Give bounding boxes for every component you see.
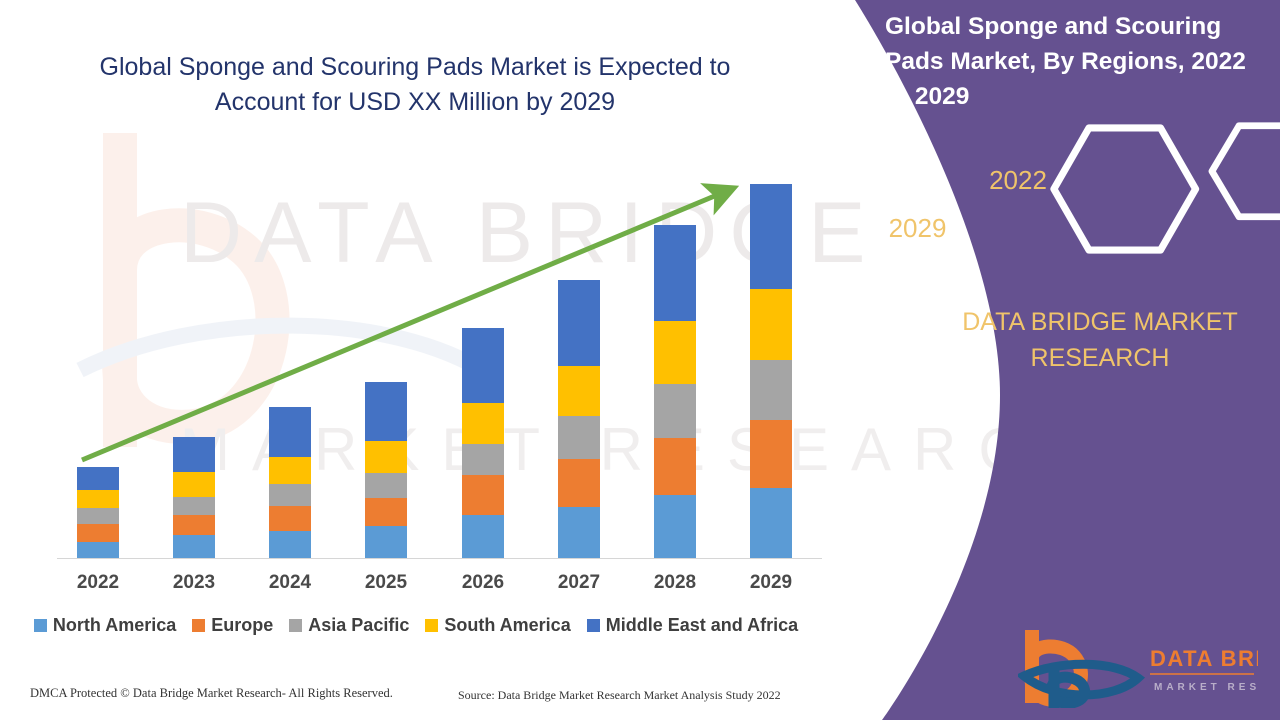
bar-group [0, 0, 860, 558]
segment-2029-south-america[interactable] [750, 289, 792, 359]
chart-legend: North AmericaEuropeAsia PacificSouth Ame… [0, 615, 832, 636]
legend-label: North America [53, 615, 176, 636]
segment-2026-north-america[interactable] [462, 515, 504, 558]
segment-2026-south-america[interactable] [462, 403, 504, 444]
legend-item-middle-east-and-africa[interactable]: Middle East and Africa [587, 615, 798, 636]
chart-plot-area: 20222023202420252026202720282029 [0, 0, 860, 580]
segment-2022-north-america[interactable] [77, 542, 119, 558]
segment-2028-north-america[interactable] [654, 495, 696, 558]
hex-2022-shape [1212, 126, 1280, 217]
segment-2027-asia-pacific[interactable] [558, 416, 600, 459]
legend-item-asia-pacific[interactable]: Asia Pacific [289, 615, 409, 636]
footer-copyright: DMCA Protected © Data Bridge Market Rese… [30, 686, 393, 701]
segment-2024-europe[interactable] [269, 506, 311, 531]
segment-2026-asia-pacific[interactable] [462, 444, 504, 476]
legend-swatch-icon [192, 619, 205, 632]
legend-item-europe[interactable]: Europe [192, 615, 273, 636]
panel-brand: DATA BRIDGE MARKET RESEARCH [940, 305, 1260, 376]
segment-2024-middle-east-and-africa[interactable] [269, 407, 311, 457]
dbmr-logo-subtitle: MARKET RESEARCH [1154, 682, 1258, 693]
segment-2022-europe[interactable] [77, 524, 119, 542]
legend-swatch-icon [34, 619, 47, 632]
segment-2029-asia-pacific[interactable] [750, 360, 792, 420]
segment-2028-middle-east-and-africa[interactable] [654, 225, 696, 321]
x-axis-labels: 20222023202420252026202720282029 [0, 572, 830, 602]
x-axis-label-2023: 2023 [154, 572, 234, 594]
segment-2025-middle-east-and-africa[interactable] [365, 382, 407, 441]
segment-2024-asia-pacific[interactable] [269, 484, 311, 506]
segment-2022-south-america[interactable] [77, 490, 119, 508]
legend-item-north-america[interactable]: North America [34, 615, 176, 636]
legend-label: Asia Pacific [308, 615, 409, 636]
legend-swatch-icon [289, 619, 302, 632]
bar-2025[interactable] [365, 382, 407, 558]
x-axis-label-2027: 2027 [539, 572, 619, 594]
x-axis-label-2025: 2025 [346, 572, 426, 594]
legend-item-south-america[interactable]: South America [425, 615, 570, 636]
segment-2025-asia-pacific[interactable] [365, 473, 407, 498]
segment-2027-europe[interactable] [558, 459, 600, 507]
x-axis-label-2029: 2029 [731, 572, 811, 594]
segment-2026-europe[interactable] [462, 475, 504, 515]
x-axis-label-2028: 2028 [635, 572, 715, 594]
x-axis-label-2026: 2026 [443, 572, 523, 594]
segment-2023-asia-pacific[interactable] [173, 497, 215, 515]
segment-2029-north-america[interactable] [750, 488, 792, 558]
bar-2028[interactable] [654, 225, 696, 558]
hex-2029-label: 2029 [820, 213, 1015, 244]
segment-2028-europe[interactable] [654, 438, 696, 495]
segment-2027-south-america[interactable] [558, 366, 600, 416]
segment-2025-north-america[interactable] [365, 526, 407, 558]
legend-label: South America [444, 615, 570, 636]
segment-2023-south-america[interactable] [173, 472, 215, 497]
bar-2023[interactable] [173, 437, 215, 558]
legend-label: Middle East and Africa [606, 615, 798, 636]
dbmr-logo-icon: DATA BRIDGE MARKET RESEARCH [1018, 630, 1258, 708]
segment-2023-europe[interactable] [173, 515, 215, 535]
bar-2024[interactable] [269, 407, 311, 558]
dbmr-logo-title: DATA BRIDGE [1150, 646, 1258, 671]
legend-swatch-icon [425, 619, 438, 632]
segment-2023-middle-east-and-africa[interactable] [173, 437, 215, 472]
segment-2028-asia-pacific[interactable] [654, 384, 696, 438]
panel-brand-line-1: DATA BRIDGE MARKET [940, 305, 1260, 341]
segment-2022-asia-pacific[interactable] [77, 508, 119, 524]
segment-2028-south-america[interactable] [654, 321, 696, 383]
x-axis-label-2024: 2024 [250, 572, 330, 594]
legend-label: Europe [211, 615, 273, 636]
segment-2024-south-america[interactable] [269, 457, 311, 484]
segment-2025-south-america[interactable] [365, 441, 407, 473]
segment-2023-north-america[interactable] [173, 535, 215, 558]
hexagon-badges: 2029 2022 [820, 118, 1280, 298]
segment-2026-middle-east-and-africa[interactable] [462, 328, 504, 403]
bar-2022[interactable] [77, 467, 119, 558]
infographic-canvas: DATA BRIDGE MARKET RESEARCH Global Spong… [0, 0, 1280, 720]
panel-brand-line-2: RESEARCH [940, 341, 1260, 377]
panel-title: Global Sponge and Scouring Pads Market, … [885, 10, 1270, 114]
x-axis-label-2022: 2022 [58, 572, 138, 594]
bar-2026[interactable] [462, 328, 504, 558]
right-panel: Global Sponge and Scouring Pads Market, … [820, 0, 1280, 720]
hex-2022-label: 2022 [898, 165, 1138, 196]
segment-2029-middle-east-and-africa[interactable] [750, 184, 792, 289]
dbmr-logo: DATA BRIDGE MARKET RESEARCH [1018, 630, 1258, 713]
hexagon-icons [820, 118, 1280, 298]
segment-2027-middle-east-and-africa[interactable] [558, 280, 600, 366]
segment-2029-europe[interactable] [750, 420, 792, 488]
segment-2022-middle-east-and-africa[interactable] [77, 467, 119, 490]
segment-2027-north-america[interactable] [558, 507, 600, 558]
legend-swatch-icon [587, 619, 600, 632]
footer-source: Source: Data Bridge Market Research Mark… [458, 688, 781, 703]
segment-2025-europe[interactable] [365, 498, 407, 526]
bar-2029[interactable] [750, 184, 792, 558]
bar-2027[interactable] [558, 280, 600, 558]
segment-2024-north-america[interactable] [269, 531, 311, 558]
